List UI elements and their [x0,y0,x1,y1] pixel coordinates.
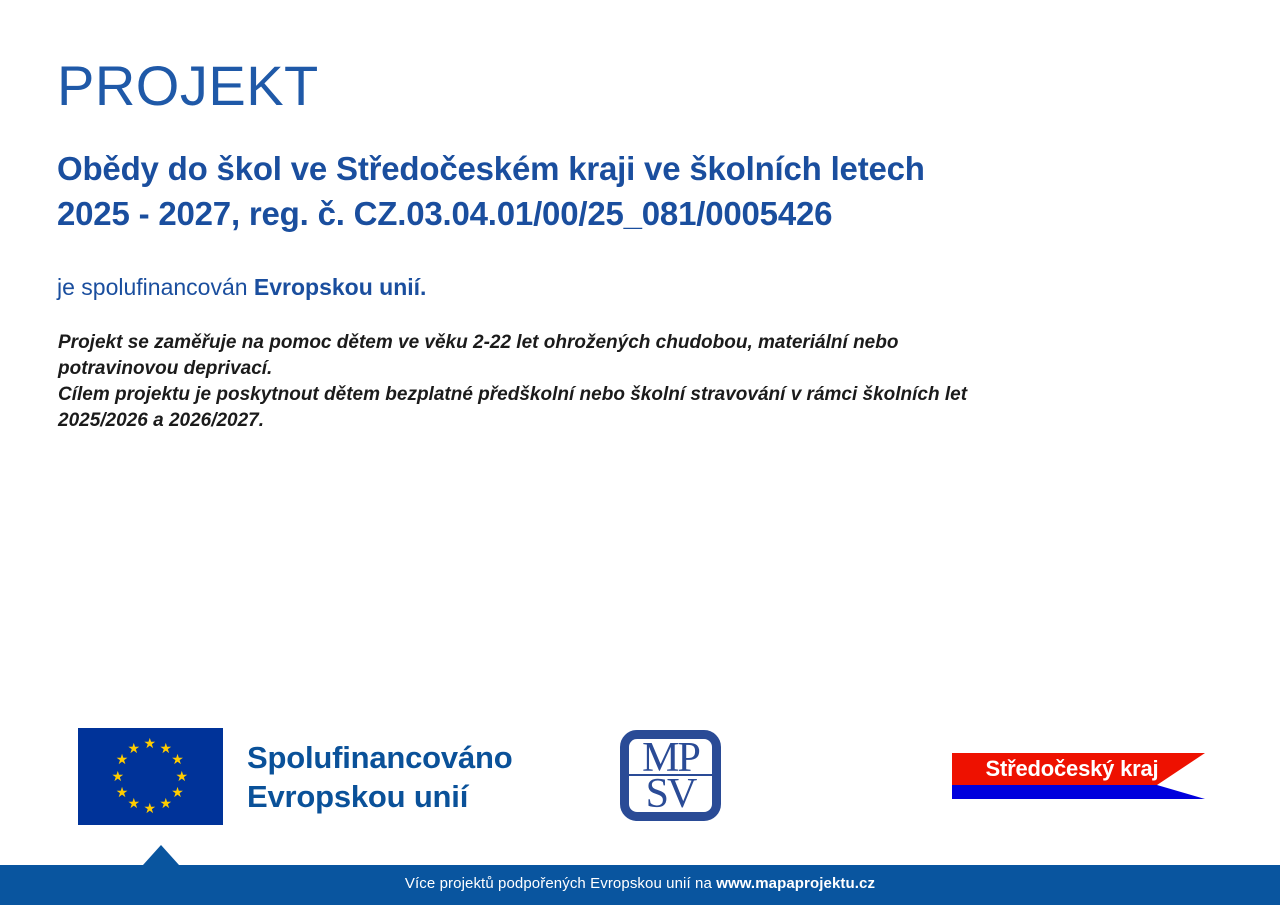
page-title-line-1: Obědy do škol ve Středočeském kraji ve š… [57,146,1177,191]
eu-cofunding-logo: Spolufinancováno Evropskou unií [78,728,512,825]
mpsv-logo-inner: MP SV [629,739,712,812]
cofunded-emphasis: Evropskou unií. [254,274,427,300]
page-title: Obědy do škol ve Středočeském kraji ve š… [57,146,1177,236]
description-line-2: potravinovou deprivací. [58,356,1188,382]
description-line-1: Projekt se zaměřuje na pomoc dětem ve vě… [58,330,1188,356]
poster-page: PROJEKT Obědy do škol ve Středočeském kr… [0,0,1280,905]
mpsv-bottom-letters: SV [629,774,712,814]
cofunded-statement: je spolufinancován Evropskou unií. [57,272,426,302]
footer-text-prefix: Více projektů podpořených Evropskou unií… [405,875,716,892]
stredocesky-kraj-label: Středočeský kraj [952,755,1192,783]
footer-triangle-marker [143,845,179,865]
eu-wordmark-line-2: Evropskou unií [247,777,512,816]
logo-strip: Spolufinancováno Evropskou unií MP SV St… [0,714,1280,844]
kicker-heading: PROJEKT [57,56,319,116]
stredocesky-kraj-blue-band [952,785,1205,799]
eu-cofunding-wordmark: Spolufinancováno Evropskou unií [247,738,512,816]
cofunded-prefix: je spolufinancován [57,274,254,300]
footer-url[interactable]: www.mapaprojektu.cz [716,875,875,892]
description-line-3: Cílem projektu je poskytnout dětem bezpl… [58,382,1188,408]
project-description: Projekt se zaměřuje na pomoc dětem ve vě… [58,330,1188,434]
stredocesky-kraj-logo: Středočeský kraj [952,753,1205,799]
footer-text: Více projektů podpořených Evropskou unií… [0,874,1280,894]
mpsv-logo: MP SV [620,730,721,821]
page-title-line-2: 2025 - 2027, reg. č. CZ.03.04.01/00/25_0… [57,191,1177,236]
description-line-4: 2025/2026 a 2026/2027. [58,408,1188,434]
eu-flag-icon [78,728,223,825]
eu-wordmark-line-1: Spolufinancováno [247,738,512,777]
